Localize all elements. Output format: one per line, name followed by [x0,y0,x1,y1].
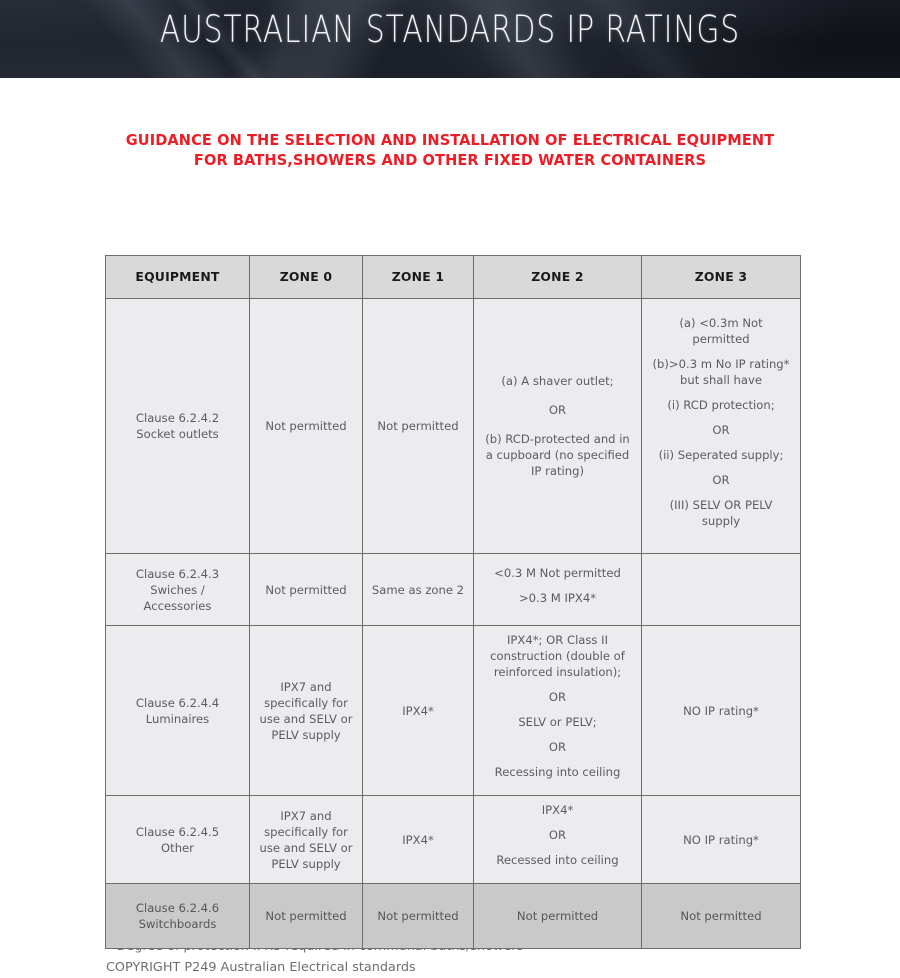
cell-equipment: Clause 6.2.4.4 Luminaires [106,626,250,796]
clause-number: Clause 6.2.4.4 [113,695,242,711]
cell-zone-1: Same as zone 2 [363,554,474,626]
cell-text: OR [649,472,793,488]
cell-equipment: Clause 6.2.4.6 Switchboards [106,884,250,949]
cell-zone-2: <0.3 M Not permitted >0.3 M IPX4* [474,554,642,626]
table-row: Clause 6.2.4.6 Switchboards Not permitte… [106,884,801,949]
cell-zone-3: Not permitted [642,884,801,949]
footnote-copyright: COPYRIGHT P249 Australian Electrical sta… [106,957,523,978]
cell-text: (b)>0.3 m No IP rating* but shall have [649,356,793,388]
cell-zone-2: Not permitted [474,884,642,949]
column-header-zone-3: ZONE 3 [642,256,801,299]
clause-title: Luminaires [113,711,242,727]
cell-zone-0: Not permitted [250,299,363,554]
cell-text: Not permitted [370,418,466,434]
clause-number: Clause 6.2.4.2 [113,410,242,426]
cell-text: Recessed into ceiling [481,852,634,868]
cell-zone-0: Not permitted [250,884,363,949]
cell-text: IPX4*; OR Class II construction (double … [481,632,634,680]
cell-text: (ii) Seperated supply; [649,447,793,463]
cell-text: (i) RCD protection; [649,397,793,413]
cell-equipment: Clause 6.2.4.5 Other [106,796,250,884]
table-row: Clause 6.2.4.4 Luminaires IPX7 and speci… [106,626,801,796]
guidance-heading-line-1: GUIDANCE ON THE SELECTION AND INSTALLATI… [27,130,873,150]
cell-zone-3: NO IP rating* [642,626,801,796]
cell-text: NO IP rating* [649,832,793,848]
cell-zone-3: NO IP rating* [642,796,801,884]
cell-zone-2: IPX4* OR Recessed into ceiling [474,796,642,884]
cell-zone-3 [642,554,801,626]
cell-text: IPX4* [370,703,466,719]
cell-text: IPX7 and specifically for use and SELV o… [257,679,355,743]
cell-zone-1: Not permitted [363,884,474,949]
clause-title: Other [113,840,242,856]
cell-text: Recessing into ceiling [481,764,634,780]
cell-zone-0: Not permitted [250,554,363,626]
page-banner: AUSTRALIAN STANDARDS IP RATINGS [0,0,900,78]
clause-number: Clause 6.2.4.6 [113,900,242,916]
cell-text: OR [649,422,793,438]
cell-text: Not permitted [257,582,355,598]
table-row: Clause 6.2.4.5 Other IPX7 and specifical… [106,796,801,884]
cell-text: IPX4* [481,802,634,818]
cell-zone-2: (a) A shaver outlet; OR (b) RCD-protecte… [474,299,642,554]
column-header-zone-1: ZONE 1 [363,256,474,299]
cell-zone-1: IPX4* [363,796,474,884]
cell-text: NO IP rating* [649,703,793,719]
cell-text: Not permitted [257,908,355,924]
cell-text: OR [481,827,634,843]
clause-number: Clause 6.2.4.3 [113,566,242,582]
cell-text: OR [481,689,634,705]
cell-equipment: Clause 6.2.4.3 Swiches / Accessories [106,554,250,626]
table-row: Clause 6.2.4.3 Swiches / Accessories Not… [106,554,801,626]
cell-text: OR [481,739,634,755]
cell-text: IPX7 and specifically for use and SELV o… [257,808,355,872]
cell-zone-3: (a) <0.3m Not permitted (b)>0.3 m No IP … [642,299,801,554]
guidance-heading: GUIDANCE ON THE SELECTION AND INSTALLATI… [27,78,873,170]
cell-text: SELV or PELV; [481,714,634,730]
guidance-heading-line-2: FOR BATHS,SHOWERS AND OTHER FIXED WATER … [27,150,873,170]
cell-zone-2: IPX4*; OR Class II construction (double … [474,626,642,796]
page-title: AUSTRALIAN STANDARDS IP RATINGS [90,8,810,51]
cell-zone-1: IPX4* [363,626,474,796]
clause-title: Swiches / [113,582,242,598]
cell-text: Not permitted [370,908,466,924]
cell-text: Same as zone 2 [370,582,466,598]
cell-zone-1: Not permitted [363,299,474,554]
cell-text: (a) <0.3m Not permitted [649,315,793,347]
cell-text: (a) A shaver outlet; [481,373,634,389]
cell-text: OR [481,402,634,418]
ip-ratings-table-container: EQUIPMENT ZONE 0 ZONE 1 ZONE 2 ZONE 3 Cl… [105,255,800,949]
clause-title: Socket outlets [113,426,242,442]
cell-text: >0.3 M IPX4* [481,590,634,606]
clause-number: Clause 6.2.4.5 [113,824,242,840]
clause-title-cont: Accessories [113,598,242,614]
content-sheet: GUIDANCE ON THE SELECTION AND INSTALLATI… [0,78,900,900]
cell-text: Not permitted [481,908,634,924]
column-header-zone-0: ZONE 0 [250,256,363,299]
cell-text: (b) RCD-protected and in a cupboard (no … [481,431,634,479]
clause-title: Switchboards [113,916,242,932]
cell-zone-0: IPX7 and specifically for use and SELV o… [250,626,363,796]
column-header-zone-2: ZONE 2 [474,256,642,299]
cell-zone-0: IPX7 and specifically for use and SELV o… [250,796,363,884]
cell-text: (III) SELV OR PELV supply [649,497,793,529]
cell-equipment: Clause 6.2.4.2 Socket outlets [106,299,250,554]
table-row: Clause 6.2.4.2 Socket outlets Not permit… [106,299,801,554]
ip-ratings-table: EQUIPMENT ZONE 0 ZONE 1 ZONE 2 ZONE 3 Cl… [105,255,801,949]
cell-text: <0.3 M Not permitted [481,565,634,581]
cell-text: IPX4* [370,832,466,848]
cell-text: Not permitted [649,908,793,924]
cell-text: Not permitted [257,418,355,434]
table-header-row: EQUIPMENT ZONE 0 ZONE 1 ZONE 2 ZONE 3 [106,256,801,299]
column-header-equipment: EQUIPMENT [106,256,250,299]
